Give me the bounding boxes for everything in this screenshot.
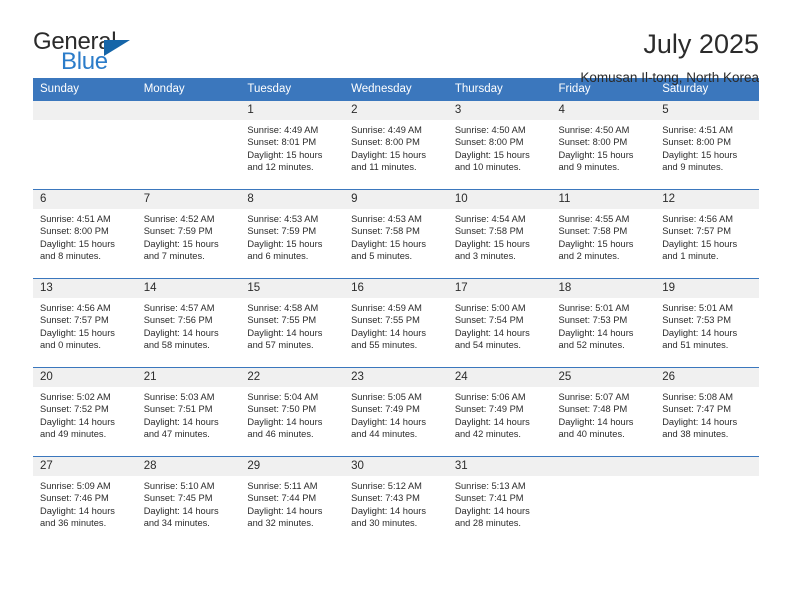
calendar-week-row: 20Sunrise: 5:02 AM Sunset: 7:52 PM Dayli… xyxy=(33,368,759,457)
day-number: 30 xyxy=(344,457,448,476)
sun-details: Sunrise: 4:49 AM Sunset: 8:00 PM Dayligh… xyxy=(344,120,448,173)
day-number: 26 xyxy=(655,368,759,387)
day-number: 28 xyxy=(137,457,241,476)
calendar-cell-day-4[interactable]: 4Sunrise: 4:50 AM Sunset: 8:00 PM Daylig… xyxy=(552,101,656,190)
calendar-cell-day-5[interactable]: 5Sunrise: 4:51 AM Sunset: 8:00 PM Daylig… xyxy=(655,101,759,190)
cell-content: 15Sunrise: 4:58 AM Sunset: 7:55 PM Dayli… xyxy=(240,279,344,367)
cell-content: 27Sunrise: 5:09 AM Sunset: 7:46 PM Dayli… xyxy=(33,457,137,546)
sun-details: Sunrise: 5:09 AM Sunset: 7:46 PM Dayligh… xyxy=(33,476,137,529)
calendar-cell-day-25[interactable]: 25Sunrise: 5:07 AM Sunset: 7:48 PM Dayli… xyxy=(552,368,656,457)
sun-details: Sunrise: 5:12 AM Sunset: 7:43 PM Dayligh… xyxy=(344,476,448,529)
cell-content: 25Sunrise: 5:07 AM Sunset: 7:48 PM Dayli… xyxy=(552,368,656,456)
day-number: 27 xyxy=(33,457,137,476)
cell-content: 5Sunrise: 4:51 AM Sunset: 8:00 PM Daylig… xyxy=(655,101,759,189)
weekday-header-tuesday: Tuesday xyxy=(240,78,344,101)
sun-details: Sunrise: 4:58 AM Sunset: 7:55 PM Dayligh… xyxy=(240,298,344,351)
day-number: 21 xyxy=(137,368,241,387)
cell-content: 18Sunrise: 5:01 AM Sunset: 7:53 PM Dayli… xyxy=(552,279,656,367)
sun-details: Sunrise: 5:07 AM Sunset: 7:48 PM Dayligh… xyxy=(552,387,656,440)
calendar-cell-day-21[interactable]: 21Sunrise: 5:03 AM Sunset: 7:51 PM Dayli… xyxy=(137,368,241,457)
cell-content: 16Sunrise: 4:59 AM Sunset: 7:55 PM Dayli… xyxy=(344,279,448,367)
cell-content: 24Sunrise: 5:06 AM Sunset: 7:49 PM Dayli… xyxy=(448,368,552,456)
day-number: 24 xyxy=(448,368,552,387)
sun-details: Sunrise: 5:10 AM Sunset: 7:45 PM Dayligh… xyxy=(137,476,241,529)
cell-content: 28Sunrise: 5:10 AM Sunset: 7:45 PM Dayli… xyxy=(137,457,241,546)
cell-content xyxy=(655,457,759,546)
sun-details: Sunrise: 4:53 AM Sunset: 7:59 PM Dayligh… xyxy=(240,209,344,262)
day-number: 12 xyxy=(655,190,759,209)
page-header: General Blue July 2025 Komusan Il-tong, … xyxy=(33,0,759,74)
cell-content: 26Sunrise: 5:08 AM Sunset: 7:47 PM Dayli… xyxy=(655,368,759,456)
calendar-cell-day-30[interactable]: 30Sunrise: 5:12 AM Sunset: 7:43 PM Dayli… xyxy=(344,457,448,546)
triangle-icon xyxy=(104,40,130,56)
sun-details: Sunrise: 4:53 AM Sunset: 7:58 PM Dayligh… xyxy=(344,209,448,262)
calendar-cell-day-28[interactable]: 28Sunrise: 5:10 AM Sunset: 7:45 PM Dayli… xyxy=(137,457,241,546)
day-number: 5 xyxy=(655,101,759,120)
calendar-cell-day-15[interactable]: 15Sunrise: 4:58 AM Sunset: 7:55 PM Dayli… xyxy=(240,279,344,368)
calendar-body: 1Sunrise: 4:49 AM Sunset: 8:01 PM Daylig… xyxy=(33,101,759,546)
sun-details: Sunrise: 4:50 AM Sunset: 8:00 PM Dayligh… xyxy=(552,120,656,173)
calendar-week-row: 27Sunrise: 5:09 AM Sunset: 7:46 PM Dayli… xyxy=(33,457,759,546)
cell-content: 1Sunrise: 4:49 AM Sunset: 8:01 PM Daylig… xyxy=(240,101,344,189)
day-number: 20 xyxy=(33,368,137,387)
day-number: 31 xyxy=(448,457,552,476)
cell-content: 23Sunrise: 5:05 AM Sunset: 7:49 PM Dayli… xyxy=(344,368,448,456)
calendar-table: Sunday Monday Tuesday Wednesday Thursday… xyxy=(33,78,759,546)
sun-details: Sunrise: 4:54 AM Sunset: 7:58 PM Dayligh… xyxy=(448,209,552,262)
calendar-cell-day-16[interactable]: 16Sunrise: 4:59 AM Sunset: 7:55 PM Dayli… xyxy=(344,279,448,368)
sun-details xyxy=(552,476,656,480)
cell-content xyxy=(552,457,656,546)
day-number: 16 xyxy=(344,279,448,298)
cell-content: 19Sunrise: 5:01 AM Sunset: 7:53 PM Dayli… xyxy=(655,279,759,367)
page-title: July 2025 xyxy=(580,30,759,60)
sun-details: Sunrise: 5:03 AM Sunset: 7:51 PM Dayligh… xyxy=(137,387,241,440)
day-number xyxy=(552,457,656,476)
sun-details: Sunrise: 5:13 AM Sunset: 7:41 PM Dayligh… xyxy=(448,476,552,529)
calendar-cell-day-2[interactable]: 2Sunrise: 4:49 AM Sunset: 8:00 PM Daylig… xyxy=(344,101,448,190)
sun-details: Sunrise: 5:00 AM Sunset: 7:54 PM Dayligh… xyxy=(448,298,552,351)
title-block: July 2025 Komusan Il-tong, North Korea xyxy=(580,30,759,85)
day-number: 11 xyxy=(552,190,656,209)
cell-content: 3Sunrise: 4:50 AM Sunset: 8:00 PM Daylig… xyxy=(448,101,552,189)
day-number: 29 xyxy=(240,457,344,476)
day-number: 13 xyxy=(33,279,137,298)
day-number: 15 xyxy=(240,279,344,298)
sun-details xyxy=(655,476,759,480)
calendar-cell-day-17[interactable]: 17Sunrise: 5:00 AM Sunset: 7:54 PM Dayli… xyxy=(448,279,552,368)
sun-details: Sunrise: 4:50 AM Sunset: 8:00 PM Dayligh… xyxy=(448,120,552,173)
calendar-cell-empty xyxy=(137,101,241,190)
cell-content xyxy=(33,101,137,189)
day-number: 8 xyxy=(240,190,344,209)
day-number: 23 xyxy=(344,368,448,387)
calendar-cell-empty xyxy=(655,457,759,546)
cell-content: 22Sunrise: 5:04 AM Sunset: 7:50 PM Dayli… xyxy=(240,368,344,456)
sun-details: Sunrise: 4:59 AM Sunset: 7:55 PM Dayligh… xyxy=(344,298,448,351)
cell-content: 10Sunrise: 4:54 AM Sunset: 7:58 PM Dayli… xyxy=(448,190,552,278)
cell-content xyxy=(137,101,241,189)
calendar-week-row: 1Sunrise: 4:49 AM Sunset: 8:01 PM Daylig… xyxy=(33,101,759,190)
calendar-cell-day-6[interactable]: 6Sunrise: 4:51 AM Sunset: 8:00 PM Daylig… xyxy=(33,190,137,279)
day-number: 9 xyxy=(344,190,448,209)
calendar-cell-day-19[interactable]: 19Sunrise: 5:01 AM Sunset: 7:53 PM Dayli… xyxy=(655,279,759,368)
sun-details: Sunrise: 5:05 AM Sunset: 7:49 PM Dayligh… xyxy=(344,387,448,440)
day-number: 10 xyxy=(448,190,552,209)
cell-content: 29Sunrise: 5:11 AM Sunset: 7:44 PM Dayli… xyxy=(240,457,344,546)
calendar-cell-empty xyxy=(552,457,656,546)
calendar-cell-day-23[interactable]: 23Sunrise: 5:05 AM Sunset: 7:49 PM Dayli… xyxy=(344,368,448,457)
cell-content: 11Sunrise: 4:55 AM Sunset: 7:58 PM Dayli… xyxy=(552,190,656,278)
cell-content: 4Sunrise: 4:50 AM Sunset: 8:00 PM Daylig… xyxy=(552,101,656,189)
sun-details xyxy=(33,120,137,124)
cell-content: 8Sunrise: 4:53 AM Sunset: 7:59 PM Daylig… xyxy=(240,190,344,278)
calendar-cell-day-18[interactable]: 18Sunrise: 5:01 AM Sunset: 7:53 PM Dayli… xyxy=(552,279,656,368)
calendar-cell-day-22[interactable]: 22Sunrise: 5:04 AM Sunset: 7:50 PM Dayli… xyxy=(240,368,344,457)
day-number xyxy=(137,101,241,120)
calendar-cell-day-31[interactable]: 31Sunrise: 5:13 AM Sunset: 7:41 PM Dayli… xyxy=(448,457,552,546)
calendar-cell-empty xyxy=(33,101,137,190)
day-number: 2 xyxy=(344,101,448,120)
sun-details: Sunrise: 4:57 AM Sunset: 7:56 PM Dayligh… xyxy=(137,298,241,351)
day-number: 1 xyxy=(240,101,344,120)
weekday-header-sunday: Sunday xyxy=(33,78,137,101)
calendar-cell-day-12[interactable]: 12Sunrise: 4:56 AM Sunset: 7:57 PM Dayli… xyxy=(655,190,759,279)
calendar-cell-day-1[interactable]: 1Sunrise: 4:49 AM Sunset: 8:01 PM Daylig… xyxy=(240,101,344,190)
calendar-cell-day-29[interactable]: 29Sunrise: 5:11 AM Sunset: 7:44 PM Dayli… xyxy=(240,457,344,546)
weekday-header-monday: Monday xyxy=(137,78,241,101)
sun-details: Sunrise: 4:51 AM Sunset: 8:00 PM Dayligh… xyxy=(33,209,137,262)
sun-details: Sunrise: 4:49 AM Sunset: 8:01 PM Dayligh… xyxy=(240,120,344,173)
day-number: 4 xyxy=(552,101,656,120)
day-number: 14 xyxy=(137,279,241,298)
day-number: 6 xyxy=(33,190,137,209)
calendar-cell-day-26[interactable]: 26Sunrise: 5:08 AM Sunset: 7:47 PM Dayli… xyxy=(655,368,759,457)
sun-details: Sunrise: 5:02 AM Sunset: 7:52 PM Dayligh… xyxy=(33,387,137,440)
sun-details: Sunrise: 4:52 AM Sunset: 7:59 PM Dayligh… xyxy=(137,209,241,262)
sun-details: Sunrise: 5:11 AM Sunset: 7:44 PM Dayligh… xyxy=(240,476,344,529)
cell-content: 6Sunrise: 4:51 AM Sunset: 8:00 PM Daylig… xyxy=(33,190,137,278)
cell-content: 14Sunrise: 4:57 AM Sunset: 7:56 PM Dayli… xyxy=(137,279,241,367)
day-number: 19 xyxy=(655,279,759,298)
sun-details: Sunrise: 4:56 AM Sunset: 7:57 PM Dayligh… xyxy=(655,209,759,262)
cell-content: 30Sunrise: 5:12 AM Sunset: 7:43 PM Dayli… xyxy=(344,457,448,546)
day-number: 17 xyxy=(448,279,552,298)
calendar-cell-day-9[interactable]: 9Sunrise: 4:53 AM Sunset: 7:58 PM Daylig… xyxy=(344,190,448,279)
cell-content: 20Sunrise: 5:02 AM Sunset: 7:52 PM Dayli… xyxy=(33,368,137,456)
cell-content: 2Sunrise: 4:49 AM Sunset: 8:00 PM Daylig… xyxy=(344,101,448,189)
day-number: 22 xyxy=(240,368,344,387)
sun-details: Sunrise: 5:08 AM Sunset: 7:47 PM Dayligh… xyxy=(655,387,759,440)
sun-details: Sunrise: 5:04 AM Sunset: 7:50 PM Dayligh… xyxy=(240,387,344,440)
calendar-week-row: 13Sunrise: 4:56 AM Sunset: 7:57 PM Dayli… xyxy=(33,279,759,368)
day-number: 7 xyxy=(137,190,241,209)
calendar-cell-day-14[interactable]: 14Sunrise: 4:57 AM Sunset: 7:56 PM Dayli… xyxy=(137,279,241,368)
sun-details: Sunrise: 4:56 AM Sunset: 7:57 PM Dayligh… xyxy=(33,298,137,351)
calendar-cell-day-13[interactable]: 13Sunrise: 4:56 AM Sunset: 7:57 PM Dayli… xyxy=(33,279,137,368)
cell-content: 7Sunrise: 4:52 AM Sunset: 7:59 PM Daylig… xyxy=(137,190,241,278)
cell-content: 12Sunrise: 4:56 AM Sunset: 7:57 PM Dayli… xyxy=(655,190,759,278)
weekday-header-wednesday: Wednesday xyxy=(344,78,448,101)
calendar-cell-day-7[interactable]: 7Sunrise: 4:52 AM Sunset: 7:59 PM Daylig… xyxy=(137,190,241,279)
day-number: 3 xyxy=(448,101,552,120)
cell-content: 31Sunrise: 5:13 AM Sunset: 7:41 PM Dayli… xyxy=(448,457,552,546)
calendar-week-row: 6Sunrise: 4:51 AM Sunset: 8:00 PM Daylig… xyxy=(33,190,759,279)
sun-details: Sunrise: 4:51 AM Sunset: 8:00 PM Dayligh… xyxy=(655,120,759,173)
calendar-cell-day-3[interactable]: 3Sunrise: 4:50 AM Sunset: 8:00 PM Daylig… xyxy=(448,101,552,190)
cell-content: 17Sunrise: 5:00 AM Sunset: 7:54 PM Dayli… xyxy=(448,279,552,367)
calendar-cell-day-27[interactable]: 27Sunrise: 5:09 AM Sunset: 7:46 PM Dayli… xyxy=(33,457,137,546)
calendar-page: General Blue July 2025 Komusan Il-tong, … xyxy=(0,0,792,612)
sun-details xyxy=(137,120,241,124)
calendar-cell-day-24[interactable]: 24Sunrise: 5:06 AM Sunset: 7:49 PM Dayli… xyxy=(448,368,552,457)
sun-details: Sunrise: 4:55 AM Sunset: 7:58 PM Dayligh… xyxy=(552,209,656,262)
cell-content: 13Sunrise: 4:56 AM Sunset: 7:57 PM Dayli… xyxy=(33,279,137,367)
day-number xyxy=(655,457,759,476)
sun-details: Sunrise: 5:01 AM Sunset: 7:53 PM Dayligh… xyxy=(552,298,656,351)
day-number xyxy=(33,101,137,120)
sun-details: Sunrise: 5:06 AM Sunset: 7:49 PM Dayligh… xyxy=(448,387,552,440)
weekday-header-thursday: Thursday xyxy=(448,78,552,101)
calendar-cell-day-20[interactable]: 20Sunrise: 5:02 AM Sunset: 7:52 PM Dayli… xyxy=(33,368,137,457)
day-number: 25 xyxy=(552,368,656,387)
calendar-cell-day-8[interactable]: 8Sunrise: 4:53 AM Sunset: 7:59 PM Daylig… xyxy=(240,190,344,279)
calendar-cell-day-11[interactable]: 11Sunrise: 4:55 AM Sunset: 7:58 PM Dayli… xyxy=(552,190,656,279)
generalblue-logo[interactable]: General Blue xyxy=(33,30,153,76)
cell-content: 9Sunrise: 4:53 AM Sunset: 7:58 PM Daylig… xyxy=(344,190,448,278)
cell-content: 21Sunrise: 5:03 AM Sunset: 7:51 PM Dayli… xyxy=(137,368,241,456)
day-number: 18 xyxy=(552,279,656,298)
calendar-cell-day-10[interactable]: 10Sunrise: 4:54 AM Sunset: 7:58 PM Dayli… xyxy=(448,190,552,279)
sun-details: Sunrise: 5:01 AM Sunset: 7:53 PM Dayligh… xyxy=(655,298,759,351)
